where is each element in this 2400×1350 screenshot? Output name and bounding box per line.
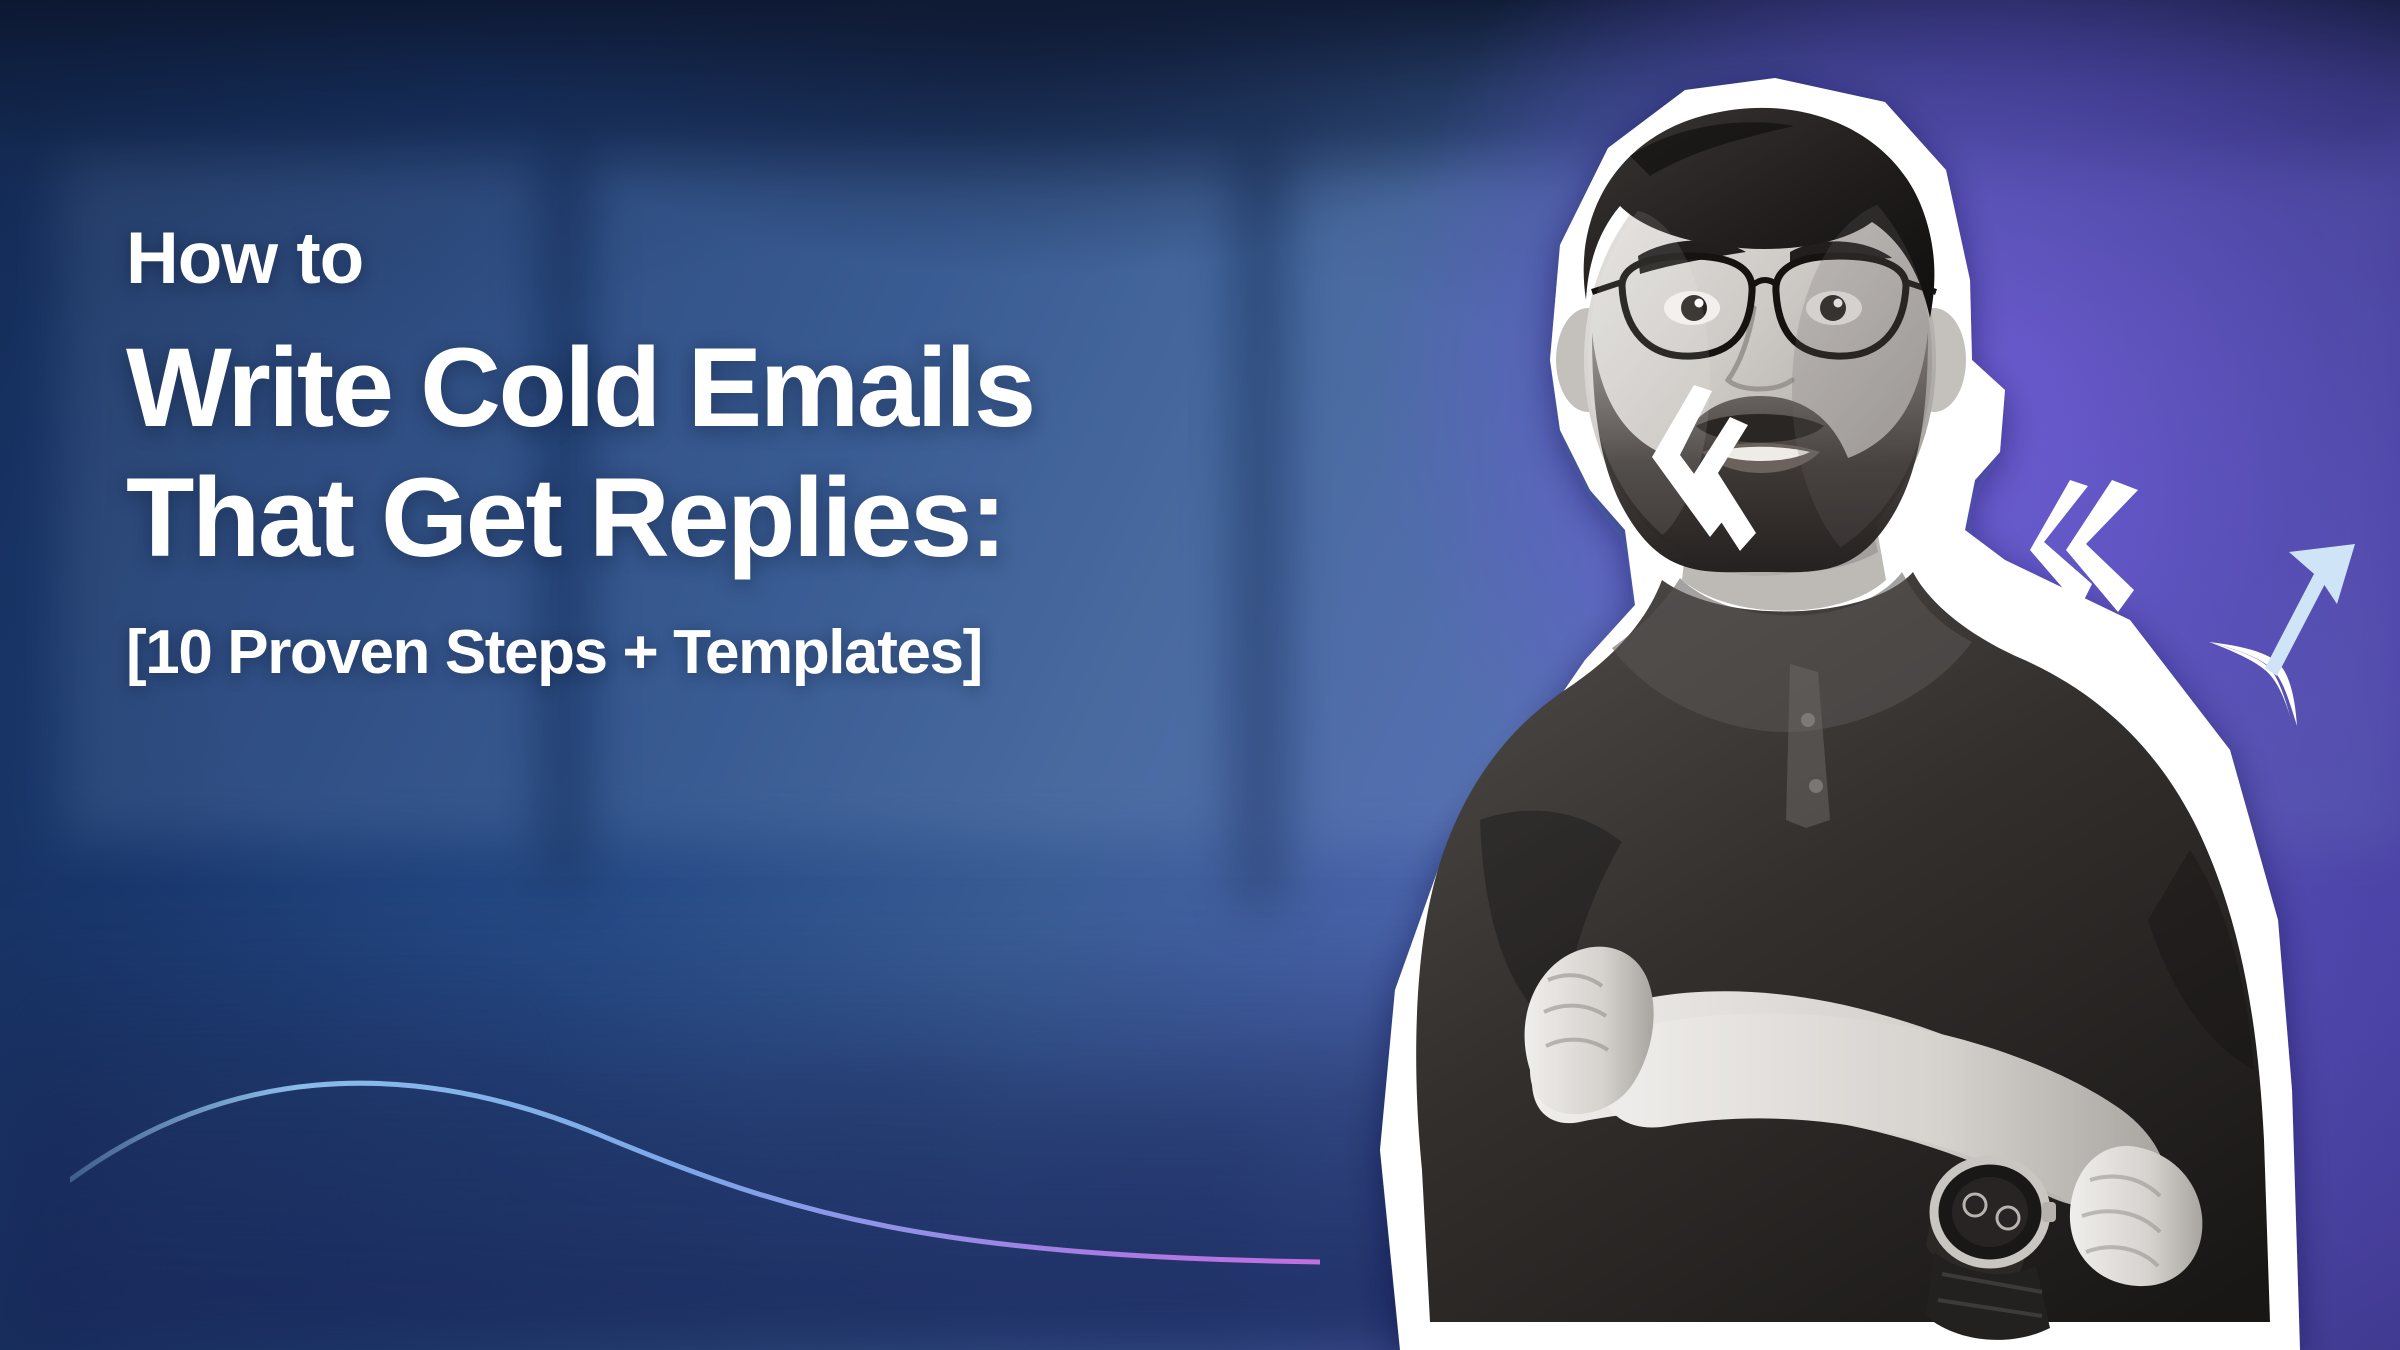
growth-arrow-up-right-icon	[2185, 520, 2400, 730]
subtitle-text: [10 Proven Steps + Templates]	[126, 619, 1034, 687]
headline-line-two: That Get Replies:	[126, 453, 1034, 583]
blog-featured-banner: How to Write Cold Emails That Get Replie…	[0, 0, 2400, 1350]
s-curve-line	[70, 1030, 1320, 1290]
double-chevron-left-icon	[1640, 385, 1760, 615]
headline-line-one: Write Cold Emails	[126, 323, 1034, 453]
eyebrow-text: How to	[126, 222, 1034, 295]
shirt-button	[1801, 713, 1815, 727]
double-chevron-left-small-icon	[2030, 480, 2200, 680]
shirt-button	[1809, 779, 1823, 793]
headline-block: How to Write Cold Emails That Get Replie…	[126, 222, 1034, 687]
